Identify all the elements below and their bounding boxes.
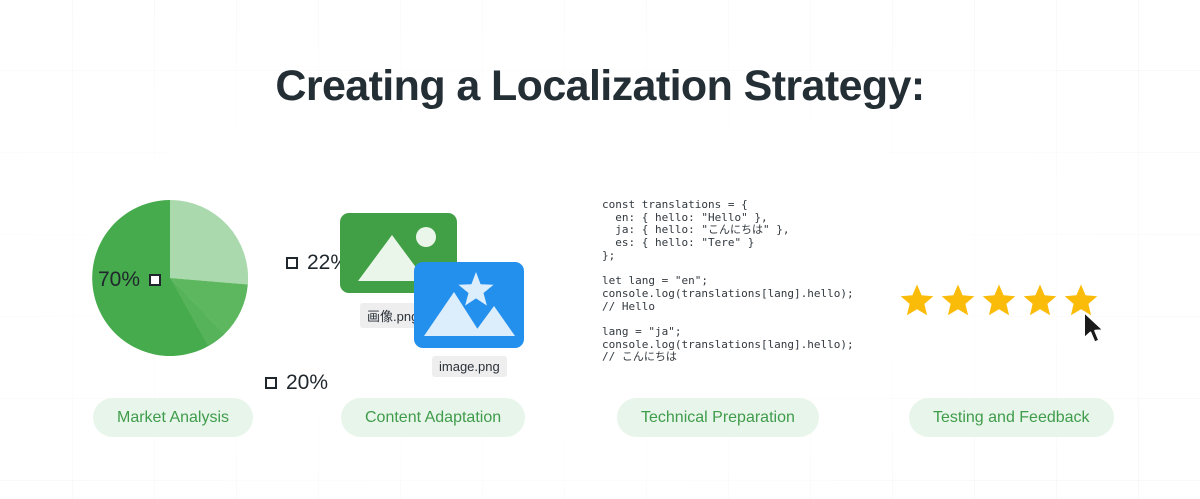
star-icon [458, 272, 493, 306]
column-technical-preparation: const translations = { en: { hello: "Hel… [580, 170, 880, 385]
column-testing-and-feedback [885, 170, 1135, 385]
pie-legend-swatch-icon [265, 377, 277, 389]
code-snippet: const translations = { en: { hello: "Hel… [602, 199, 854, 364]
pie-label-70: 70% [98, 268, 161, 292]
pill-market-analysis[interactable]: Market Analysis [93, 398, 253, 437]
pie-legend-swatch-icon [286, 257, 298, 269]
image-card-blue[interactable] [414, 262, 524, 348]
mountain-small-icon [472, 306, 515, 336]
star-icon [899, 282, 935, 318]
pie-chart: 70% 22% 20% [90, 198, 250, 358]
column-market-analysis: 70% 22% 20% [28, 170, 313, 385]
column-content-adaptation: 画像.png image.png [318, 170, 548, 385]
pill-content-adaptation[interactable]: Content Adaptation [341, 398, 525, 437]
pill-testing-and-feedback[interactable]: Testing and Feedback [909, 398, 1114, 437]
sun-icon [416, 227, 436, 247]
pie-slice-22 [170, 200, 248, 285]
star-icon [981, 282, 1017, 318]
star-rating[interactable] [899, 282, 1099, 318]
pie-label-70-text: 70% [98, 268, 140, 292]
page-title: Creating a Localization Strategy: [0, 62, 1200, 111]
mouse-cursor-icon [1082, 311, 1108, 345]
star-icon [940, 282, 976, 318]
star-icon [1022, 282, 1058, 318]
pie-legend-swatch-icon [149, 274, 161, 286]
pill-technical-preparation[interactable]: Technical Preparation [617, 398, 819, 437]
file-chip-english: image.png [432, 356, 507, 377]
